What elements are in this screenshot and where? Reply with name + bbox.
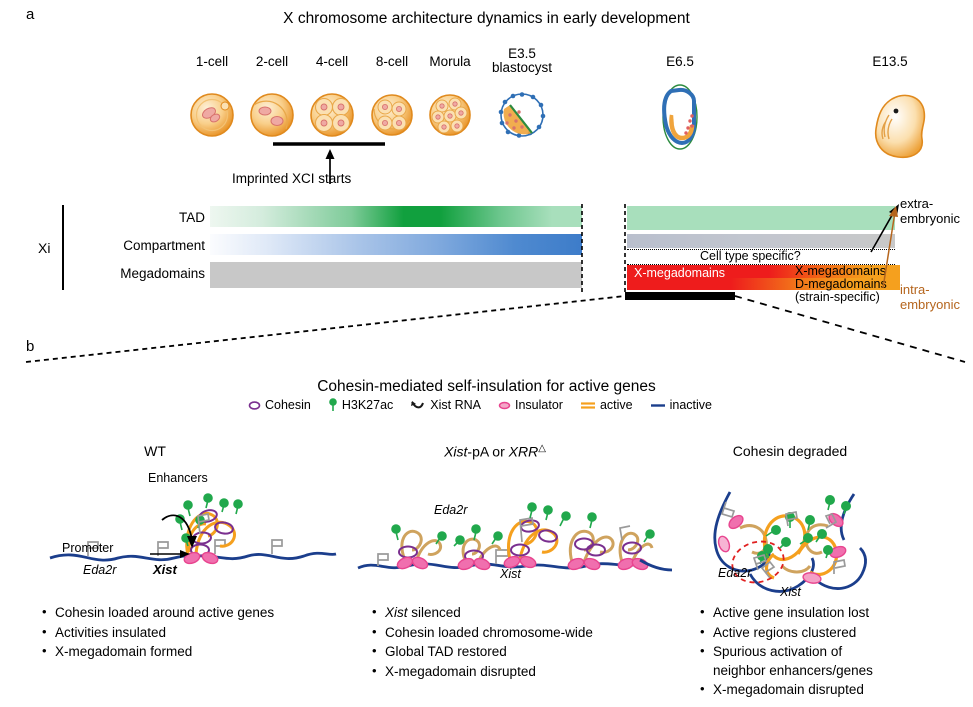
imprinted-xci-label: Imprinted XCI starts xyxy=(232,171,351,186)
cohesin-degraded-bullet-2: Active regions clustered xyxy=(700,624,965,643)
wt-xist-text: Xist xyxy=(153,562,177,577)
wt-bullet-2: Activities insulated xyxy=(42,624,332,643)
cohesin-degraded-bullets: Active gene insulation lost Active regio… xyxy=(700,604,965,701)
legend-label-insulator: Insulator xyxy=(515,398,563,412)
cohesin-degraded-eda2r-text: Eda2r xyxy=(718,566,751,580)
xist-pa-bullet-2: Cohesin loaded chromosome-wide xyxy=(372,624,652,643)
legend-label-active: active xyxy=(600,398,633,412)
extra-embryonic-label: extra- embryonic xyxy=(900,196,960,226)
xist-pa-bullet-3: Global TAD restored xyxy=(372,643,652,662)
column-title-cohesin-degraded: Cohesin degraded xyxy=(690,443,890,459)
cohesin-degraded-xist-text: Xist xyxy=(780,585,801,599)
xist-pa-label-xist: Xist xyxy=(500,567,521,581)
wt-bullet-1: Cohesin loaded around active genes xyxy=(42,604,332,623)
insulator-oval-icon xyxy=(498,400,511,411)
cohesin-degraded-bullet-4: X-megadomain disrupted xyxy=(700,681,965,700)
panel-b-legend: Cohesin H3K27ac Xist RNA Insulator activ… xyxy=(0,398,973,412)
legend-label-inactive: inactive xyxy=(670,398,712,412)
legend-label-cohesin: Cohesin xyxy=(265,398,311,412)
stage-label-blastocyst-line1: E3.5 xyxy=(482,47,562,61)
h3k27ac-lollipop-icon xyxy=(328,398,338,412)
panel-b-title: Cohesin-mediated self-insulation for act… xyxy=(0,378,973,396)
e135-embryo-icon xyxy=(876,95,925,157)
one-cell-embryo-icon xyxy=(191,94,233,136)
wt-bullet-3: X-megadomain formed xyxy=(42,643,332,662)
legend-item-xist-rna: Xist RNA xyxy=(410,398,481,412)
legend-item-active: active xyxy=(580,398,633,412)
cohesin-degraded-bullet-3-line2: neighbor enhancers/genes xyxy=(713,663,873,678)
xist-rna-hook-icon xyxy=(410,399,426,411)
xist-pa-label-eda2r: Eda2r xyxy=(434,503,467,517)
wt-bullets: Cohesin loaded around active genes Activ… xyxy=(42,604,332,663)
blastocyst-icon xyxy=(499,92,546,138)
row-label-megadomains: Megadomains xyxy=(60,266,205,281)
cohesin-degraded-label-xist: Xist xyxy=(780,585,801,599)
xist-pa-eda2r-text: Eda2r xyxy=(434,503,467,517)
xi-axis-label: Xi xyxy=(38,240,50,256)
cohesin-degraded-bullet-1: Active gene insulation lost xyxy=(700,604,965,623)
zoom-fan-dashed-lines xyxy=(0,292,973,372)
eight-cell-embryo-icon xyxy=(372,95,412,135)
stage-label-blastocyst-line2: blastocyst xyxy=(482,61,562,75)
wt-eda2r-text: Eda2r xyxy=(83,563,116,577)
xist-pa-xist-text: Xist xyxy=(500,567,521,581)
active-line-icon xyxy=(580,400,596,411)
stage-label-blastocyst: E3.5 blastocyst xyxy=(482,47,562,75)
wt-label-promoter: Promoter xyxy=(62,541,113,555)
xist-pa-bullets: Xist silenced Cohesin loaded chromosome-… xyxy=(372,604,652,682)
column-title-wt: WT xyxy=(75,443,235,459)
cohesin-ring-icon xyxy=(248,400,261,411)
row-label-compartment: Compartment xyxy=(60,238,205,253)
megadomains-bar-left xyxy=(210,262,582,288)
xist-pa-title-part1: Xist xyxy=(444,444,467,460)
four-cell-embryo-icon xyxy=(311,94,353,136)
inactive-line-icon xyxy=(650,400,666,411)
xist-pa-title-part3: XRR xyxy=(509,444,539,460)
row-label-tad: TAD xyxy=(60,210,205,225)
cell-type-specific-label: Cell type specific? xyxy=(700,249,801,263)
xist-pa-bullet-1-gene: Xist xyxy=(385,605,408,620)
e65-embryo-icon xyxy=(663,85,697,149)
wt-label-enhancers: Enhancers xyxy=(148,471,208,485)
cohesin-degraded-label-eda2r: Eda2r xyxy=(718,566,751,580)
xist-pa-title-part4: △ xyxy=(538,443,546,454)
panel-a-title: X chromosome architecture dynamics in ea… xyxy=(0,10,973,28)
tad-bar-left xyxy=(210,206,582,227)
x-megadomains-left-label: X-megadomains xyxy=(634,266,725,280)
cohesin-degraded-bullet-3: Spurious activation of neighbor enhancer… xyxy=(700,643,965,680)
xist-pa-title-part2: -pA or xyxy=(467,444,508,460)
stage-label-e6-5: E6.5 xyxy=(640,55,720,69)
extra-embryonic-line2: embryonic xyxy=(900,211,960,226)
legend-item-cohesin: Cohesin xyxy=(248,398,311,412)
wt-label-xist: Xist xyxy=(153,562,177,577)
xist-pa-bullet-1: Xist silenced xyxy=(372,604,652,623)
wt-label-eda2r: Eda2r xyxy=(83,563,116,577)
morula-icon xyxy=(430,95,470,135)
stage-label-morula: Morula xyxy=(410,55,490,69)
legend-item-insulator: Insulator xyxy=(498,398,563,412)
legend-item-h3k27ac: H3K27ac xyxy=(328,398,393,412)
extra-embryonic-line1: extra- xyxy=(900,196,960,211)
legend-label-h3k27ac: H3K27ac xyxy=(342,398,393,412)
right-block-dashed-edge xyxy=(621,204,631,296)
cohesin-degraded-bullet-3-line1: Spurious activation of xyxy=(713,644,842,659)
compartment-bar-left xyxy=(210,234,582,255)
two-cell-embryo-icon xyxy=(251,94,293,136)
legend-item-inactive: inactive xyxy=(650,398,712,412)
xist-pa-bullet-4: X-megadomain disrupted xyxy=(372,663,652,682)
column-title-xist-pa: Xist-pA or XRR△ xyxy=(370,443,620,460)
left-block-dashed-edge xyxy=(578,204,588,294)
stage-label-e13-5: E13.5 xyxy=(850,55,930,69)
legend-label-xist-rna: Xist RNA xyxy=(430,398,481,412)
panel-b-letter: b xyxy=(26,338,34,355)
